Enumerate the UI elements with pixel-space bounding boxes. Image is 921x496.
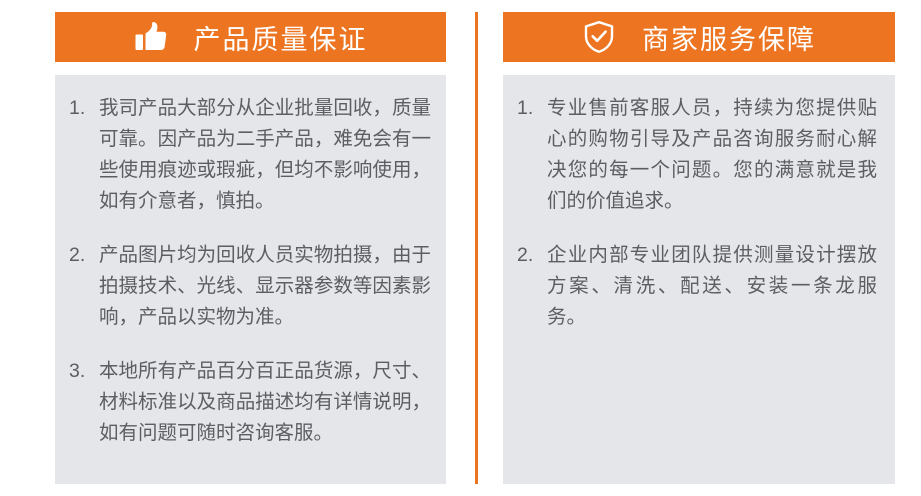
service-guarantee-body: 1. 专业售前客服人员，持续为您提供贴心的购物引导及产品咨询服务耐心解决您的每一… bbox=[503, 75, 895, 484]
shield-check-icon bbox=[582, 20, 616, 54]
panel-title: 商家服务保障 bbox=[642, 18, 816, 57]
service-guarantee-list: 1. 专业售前客服人员，持续为您提供贴心的购物引导及产品咨询服务耐心解决您的每一… bbox=[517, 93, 881, 333]
list-item-index: 2. bbox=[517, 240, 547, 271]
list-item: 2. 企业内部专业团队提供测量设计摆放方案、清洗、配送、安装一条龙服务。 bbox=[517, 240, 881, 333]
list-item-text: 专业售前客服人员，持续为您提供贴心的购物引导及产品咨询服务耐心解决您的每一个问题… bbox=[547, 93, 877, 217]
quality-guarantee-list: 1. 我司产品大部分从企业批量回收，质量可靠。因产品为二手产品，难免会有一些使用… bbox=[69, 93, 432, 449]
quality-guarantee-body: 1. 我司产品大部分从企业批量回收，质量可靠。因产品为二手产品，难免会有一些使用… bbox=[55, 75, 446, 484]
list-item: 3. 本地所有产品百分百正品货源，尺寸、材料标准以及商品描述均有详情说明，如有问… bbox=[69, 356, 432, 449]
guarantee-board: 产品质量保证 1. 我司产品大部分从企业批量回收，质量可靠。因产品为二手产品，难… bbox=[0, 0, 921, 496]
list-item-index: 1. bbox=[517, 93, 547, 124]
thumbs-up-icon bbox=[134, 20, 168, 54]
panel-title: 产品质量保证 bbox=[194, 18, 368, 57]
list-item: 1. 我司产品大部分从企业批量回收，质量可靠。因产品为二手产品，难免会有一些使用… bbox=[69, 93, 432, 217]
list-item-text: 我司产品大部分从企业批量回收，质量可靠。因产品为二手产品，难免会有一些使用痕迹或… bbox=[99, 93, 431, 217]
list-item-text: 产品图片均为回收人员实物拍摄，由于拍摄技术、光线、显示器参数等因素影响，产品以实… bbox=[99, 240, 431, 333]
list-item-text: 本地所有产品百分百正品货源，尺寸、材料标准以及商品描述均有详情说明，如有问题可随… bbox=[99, 356, 431, 449]
list-item-text: 企业内部专业团队提供测量设计摆放方案、清洗、配送、安装一条龙服务。 bbox=[547, 240, 877, 333]
column-divider bbox=[475, 12, 478, 484]
list-item: 2. 产品图片均为回收人员实物拍摄，由于拍摄技术、光线、显示器参数等因素影响，产… bbox=[69, 240, 432, 333]
service-guarantee-header: 商家服务保障 bbox=[503, 12, 895, 62]
list-item-index: 2. bbox=[69, 240, 99, 271]
list-item-index: 3. bbox=[69, 356, 99, 387]
panel-service-guarantee: 商家服务保障 1. 专业售前客服人员，持续为您提供贴心的购物引导及产品咨询服务耐… bbox=[503, 0, 895, 496]
list-item-index: 1. bbox=[69, 93, 99, 124]
list-item: 1. 专业售前客服人员，持续为您提供贴心的购物引导及产品咨询服务耐心解决您的每一… bbox=[517, 93, 881, 217]
panel-quality-guarantee: 产品质量保证 1. 我司产品大部分从企业批量回收，质量可靠。因产品为二手产品，难… bbox=[55, 0, 446, 496]
quality-guarantee-header: 产品质量保证 bbox=[55, 12, 446, 62]
